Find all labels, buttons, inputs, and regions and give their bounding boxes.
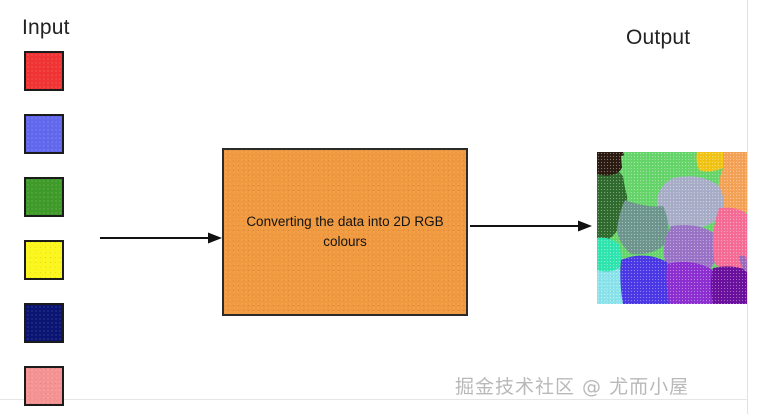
arrow-process-to-output — [470, 218, 592, 234]
arrow-input-to-process — [100, 230, 222, 246]
texture-overlay — [26, 116, 62, 152]
input-swatch-pink — [24, 366, 64, 406]
diagram-canvas: Input Output Converting the data into 2D… — [0, 0, 759, 414]
process-box: Converting the data into 2D RGB colours — [222, 148, 468, 316]
input-swatch-blue — [24, 114, 64, 154]
output-image — [597, 152, 747, 304]
input-swatch-red — [24, 51, 64, 91]
output-title: Output — [626, 26, 690, 50]
input-swatch-navy — [24, 303, 64, 343]
page-frame-right-edge — [747, 0, 748, 414]
texture-overlay — [26, 53, 62, 89]
watermark-text: 掘金技术社区 @ 尤而小屋 — [455, 372, 689, 399]
texture-overlay — [26, 368, 62, 404]
input-swatch-green — [24, 177, 64, 217]
input-swatch-yellow — [24, 240, 64, 280]
input-title: Input — [22, 16, 70, 40]
page-frame-bottom-edge — [0, 399, 747, 400]
texture-overlay — [26, 179, 62, 215]
texture-overlay — [26, 242, 62, 278]
process-box-label: Converting the data into 2D RGB colours — [239, 212, 451, 251]
texture-overlay — [26, 305, 62, 341]
